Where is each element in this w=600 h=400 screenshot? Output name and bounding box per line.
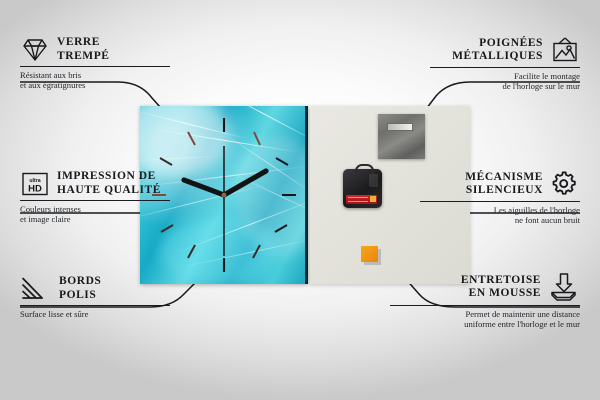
feature-rule <box>430 67 580 68</box>
mechanism-panel-detail <box>369 174 378 187</box>
battery-plus-terminal <box>370 196 376 202</box>
ultra-hd-badge-icon: ultra HD <box>20 171 50 197</box>
feature-desc-line1: Facilite le montage <box>430 71 580 82</box>
clock-center-cap <box>222 193 227 198</box>
feature-verre-trempe: VERRE TREMPÉ Résistant aux bris et aux é… <box>20 36 170 91</box>
feature-rule <box>420 201 580 202</box>
feature-desc-line1: Surface lisse et sûre <box>20 309 170 320</box>
feature-rule <box>20 305 170 306</box>
feature-title-line1: MÉCANISME <box>465 171 543 185</box>
feature-impression-haute-qualite: ultra HD IMPRESSION DE HAUTE QUALITÉ Cou… <box>20 170 170 225</box>
feature-title-line1: IMPRESSION DE <box>57 170 161 184</box>
metal-hanger-plate <box>378 114 425 159</box>
feature-desc-line2: et aux égratignures <box>20 80 170 91</box>
battery <box>346 195 377 204</box>
feature-title-line2: MÉTALLIQUES <box>452 50 543 64</box>
arrow-down-onto-pad-icon <box>548 272 580 302</box>
svg-text:HD: HD <box>28 183 42 194</box>
foam-spacer <box>361 246 378 262</box>
quartz-mechanism <box>343 169 382 208</box>
feature-title-line2: SILENCIEUX <box>465 184 543 198</box>
tick-5 <box>253 245 260 258</box>
feature-mecanisme-silencieux: MÉCANISME SILENCIEUX Les aiguilles de l'… <box>420 170 580 226</box>
tick-8 <box>161 225 173 232</box>
mechanism-hanging-loop <box>355 164 374 174</box>
feature-title-line2: TREMPÉ <box>57 50 110 64</box>
feature-desc-line2: ne font aucun bruit <box>420 215 580 226</box>
hanger-slot <box>387 123 413 131</box>
infographic-canvas: VERRE TREMPÉ Résistant aux bris et aux é… <box>0 0 600 400</box>
feature-title-line2: POLIS <box>59 289 101 303</box>
feature-rule <box>20 66 170 67</box>
glass-edge <box>305 106 308 284</box>
tick-2 <box>276 158 288 165</box>
tick-11 <box>188 132 195 145</box>
feature-title-line2: HAUTE QUALITÉ <box>57 184 161 198</box>
feature-desc-line1: Couleurs intenses <box>20 204 170 215</box>
tick-7 <box>188 245 195 258</box>
diamond-icon <box>20 37 50 63</box>
feature-bords-polis: BORDS POLIS Surface lisse et sûre <box>20 275 170 319</box>
minute-hand <box>224 171 266 195</box>
feature-desc-line1: Les aiguilles de l'horloge <box>420 205 580 216</box>
gear-icon <box>550 170 580 198</box>
feature-desc-line1: Résistant aux bris <box>20 70 170 81</box>
feature-desc-line1: Permet de maintenir une distance <box>390 309 580 320</box>
feature-desc-line2: et image claire <box>20 214 170 225</box>
feature-entretoise-en-mousse: ENTRETOISE EN MOUSSE Permet de maintenir… <box>390 272 580 330</box>
feature-rule <box>390 305 580 306</box>
tick-4 <box>275 225 287 232</box>
feature-title-line1: ENTRETOISE <box>461 274 541 288</box>
feature-desc-line2: de l'horloge sur le mur <box>430 81 580 92</box>
feature-title-line1: BORDS <box>59 275 101 289</box>
feature-title-line1: VERRE <box>57 36 110 50</box>
framed-picture-hanging-icon <box>550 36 580 64</box>
tick-1 <box>254 132 260 145</box>
feature-poignees-metalliques: POIGNÉES MÉTALLIQUES Facilite le montage… <box>430 36 580 92</box>
polished-edge-lines-icon <box>20 276 52 302</box>
feature-title-line2: EN MOUSSE <box>461 287 541 301</box>
tick-10 <box>160 158 172 165</box>
feature-desc-line2: uniforme entre l'horloge et le mur <box>390 319 580 330</box>
hour-hand <box>184 180 224 195</box>
feature-rule <box>20 200 170 201</box>
feature-title-line1: POIGNÉES <box>452 37 543 51</box>
